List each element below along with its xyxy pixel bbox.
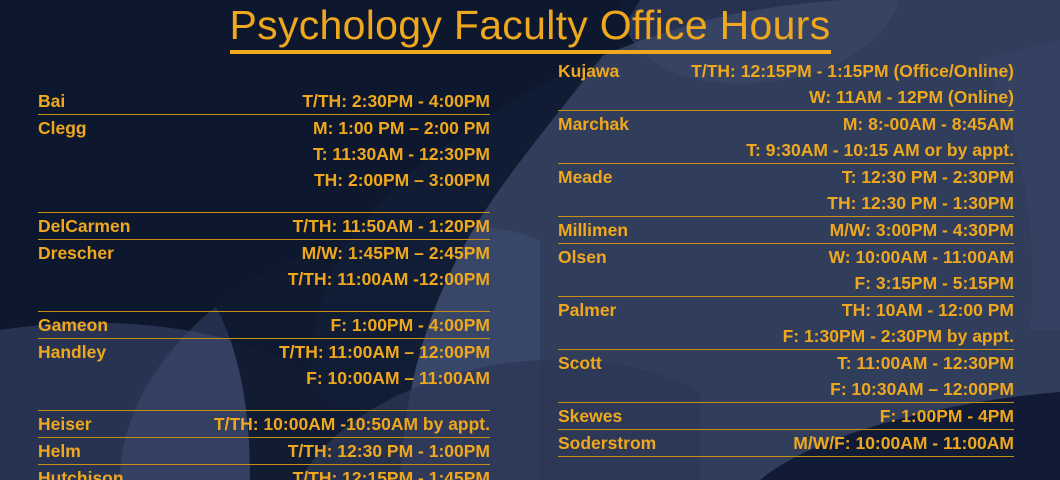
faculty-entry-primary-row: BaiT/TH: 2:30PM - 4:00PM	[38, 88, 490, 114]
faculty-name: Olsen	[558, 244, 615, 270]
office-hours-line: T/TH: 11:00AM -12:00PM	[38, 266, 490, 292]
faculty-entry-primary-row: HeiserT/TH: 10:00AM -10:50AM by appt.	[38, 411, 490, 437]
office-hours-line: T/TH: 11:00AM – 12:00PM	[114, 339, 490, 365]
faculty-entry-primary-row: MillimenM/W: 3:00PM - 4:30PM	[558, 217, 1014, 243]
office-hours-line: M/W: 1:45PM – 2:45PM	[122, 240, 490, 266]
faculty-entry-primary-row: PalmerTH: 10AM - 12:00 PM	[558, 297, 1014, 323]
page-title: Psychology Faculty Office Hours	[0, 2, 1060, 48]
office-hours-line: T/TH: 12:15PM - 1:45PM	[132, 465, 490, 480]
faculty-entry: DrescherM/W: 1:45PM – 2:45PMT/TH: 11:00A…	[38, 240, 490, 312]
office-hours-line: F: 1:00PM - 4PM	[630, 403, 1014, 429]
office-hours-line: T/TH: 10:00AM -10:50AM by appt.	[100, 411, 490, 437]
faculty-entry: MeadeT: 12:30 PM - 2:30PMTH: 12:30 PM - …	[558, 164, 1014, 217]
office-hours-line: W: 10:00AM - 11:00AM	[615, 244, 1014, 270]
faculty-entry: OlsenW: 10:00AM - 11:00AMF: 3:15PM - 5:1…	[558, 244, 1014, 297]
faculty-name: Marchak	[558, 111, 637, 137]
slide-content: Psychology Faculty Office Hours BaiT/TH:…	[0, 0, 1060, 480]
faculty-entry: ScottT: 11:00AM - 12:30PMF: 10:30AM – 12…	[558, 350, 1014, 403]
faculty-name: Kujawa	[558, 58, 627, 84]
office-hours-line: T/TH: 11:50AM - 1:20PM	[138, 213, 490, 239]
faculty-entry: KujawaT/TH: 12:15PM - 1:15PM (Office/Onl…	[558, 58, 1014, 111]
faculty-entry: BaiT/TH: 2:30PM - 4:00PM	[38, 88, 490, 115]
faculty-entry: HeiserT/TH: 10:00AM -10:50AM by appt.	[38, 411, 490, 438]
faculty-name: Clegg	[38, 115, 95, 141]
faculty-entry: GameonF: 1:00PM - 4:00PM	[38, 312, 490, 339]
faculty-name: Hutchison	[38, 465, 132, 480]
faculty-entry: SoderstromM/W/F: 10:00AM - 11:00AM	[558, 430, 1014, 457]
office-hours-line: M: 8:-00AM - 8:45AM	[637, 111, 1014, 137]
office-hours-line: M/W/F: 10:00AM - 11:00AM	[664, 430, 1014, 456]
faculty-entry-primary-row: MeadeT: 12:30 PM - 2:30PM	[558, 164, 1014, 190]
faculty-entry: DelCarmenT/TH: 11:50AM - 1:20PM	[38, 213, 490, 240]
office-hours-line: F: 1:00PM - 4:00PM	[116, 312, 490, 338]
faculty-name: Palmer	[558, 297, 624, 323]
faculty-column-right: KujawaT/TH: 12:15PM - 1:15PM (Office/Onl…	[558, 58, 1014, 457]
office-hours-line: TH: 2:00PM – 3:00PM	[38, 167, 490, 193]
faculty-entry: MillimenM/W: 3:00PM - 4:30PM	[558, 217, 1014, 244]
faculty-entry-primary-row: GameonF: 1:00PM - 4:00PM	[38, 312, 490, 338]
faculty-name: Soderstrom	[558, 430, 664, 456]
entry-spacer	[38, 391, 490, 410]
office-hours-line: T/TH: 12:15PM - 1:15PM (Office/Online)	[627, 58, 1014, 84]
office-hours-line: T: 11:00AM - 12:30PM	[610, 350, 1014, 376]
faculty-entry: SkewesF: 1:00PM - 4PM	[558, 403, 1014, 430]
faculty-entry: PalmerTH: 10AM - 12:00 PMF: 1:30PM - 2:3…	[558, 297, 1014, 350]
faculty-entry-primary-row: DelCarmenT/TH: 11:50AM - 1:20PM	[38, 213, 490, 239]
faculty-entry-primary-row: OlsenW: 10:00AM - 11:00AM	[558, 244, 1014, 270]
faculty-name: Millimen	[558, 217, 636, 243]
faculty-name: Bai	[38, 88, 73, 114]
faculty-entry: HutchisonT/TH: 12:15PM - 1:45PM	[38, 465, 490, 480]
office-hours-line: F: 10:30AM – 12:00PM	[558, 376, 1014, 402]
office-hours-line: M/W: 3:00PM - 4:30PM	[636, 217, 1014, 243]
faculty-name: Helm	[38, 438, 89, 464]
office-hours-line: T: 11:30AM - 12:30PM	[38, 141, 490, 167]
faculty-name: Heiser	[38, 411, 100, 437]
faculty-entry-primary-row: SkewesF: 1:00PM - 4PM	[558, 403, 1014, 429]
faculty-entry-primary-row: ScottT: 11:00AM - 12:30PM	[558, 350, 1014, 376]
faculty-entry: MarchakM: 8:-00AM - 8:45AMT: 9:30AM - 10…	[558, 111, 1014, 164]
entry-spacer	[38, 193, 490, 212]
faculty-column-left: BaiT/TH: 2:30PM - 4:00PMCleggM: 1:00 PM …	[38, 88, 490, 480]
office-hours-line: W: 11AM - 12PM (Online)	[558, 84, 1014, 110]
faculty-entry: HandleyT/TH: 11:00AM – 12:00PMF: 10:00AM…	[38, 339, 490, 411]
faculty-name: Scott	[558, 350, 610, 376]
faculty-name: Handley	[38, 339, 114, 365]
office-hours-line: TH: 10AM - 12:00 PM	[624, 297, 1014, 323]
faculty-name: Drescher	[38, 240, 122, 266]
faculty-name: Meade	[558, 164, 620, 190]
faculty-name: Skewes	[558, 403, 630, 429]
faculty-entry-primary-row: HelmT/TH: 12:30 PM - 1:00PM	[38, 438, 490, 464]
faculty-name: Gameon	[38, 312, 116, 338]
faculty-entry-primary-row: HutchisonT/TH: 12:15PM - 1:45PM	[38, 465, 490, 480]
office-hours-line: F: 3:15PM - 5:15PM	[558, 270, 1014, 296]
office-hours-line: M: 1:00 PM – 2:00 PM	[95, 115, 490, 141]
office-hours-line: TH: 12:30 PM - 1:30PM	[558, 190, 1014, 216]
faculty-entry-primary-row: MarchakM: 8:-00AM - 8:45AM	[558, 111, 1014, 137]
faculty-entry-primary-row: KujawaT/TH: 12:15PM - 1:15PM (Office/Onl…	[558, 58, 1014, 84]
office-hours-line: T: 12:30 PM - 2:30PM	[620, 164, 1014, 190]
faculty-entry: CleggM: 1:00 PM – 2:00 PMT: 11:30AM - 12…	[38, 115, 490, 213]
faculty-entry-primary-row: SoderstromM/W/F: 10:00AM - 11:00AM	[558, 430, 1014, 456]
entry-spacer	[38, 292, 490, 311]
faculty-entry-primary-row: DrescherM/W: 1:45PM – 2:45PM	[38, 240, 490, 266]
office-hours-line: T/TH: 12:30 PM - 1:00PM	[89, 438, 490, 464]
office-hours-line: F: 10:00AM – 11:00AM	[38, 365, 490, 391]
faculty-entry: HelmT/TH: 12:30 PM - 1:00PM	[38, 438, 490, 465]
faculty-entry-primary-row: CleggM: 1:00 PM – 2:00 PM	[38, 115, 490, 141]
faculty-name: DelCarmen	[38, 213, 138, 239]
office-hours-line: T/TH: 2:30PM - 4:00PM	[73, 88, 490, 114]
faculty-entry-primary-row: HandleyT/TH: 11:00AM – 12:00PM	[38, 339, 490, 365]
office-hours-line: F: 1:30PM - 2:30PM by appt.	[558, 323, 1014, 349]
slide-root: Psychology Faculty Office Hours BaiT/TH:…	[0, 0, 1060, 480]
page-title-text: Psychology Faculty Office Hours	[230, 2, 831, 54]
office-hours-line: T: 9:30AM - 10:15 AM or by appt.	[558, 137, 1014, 163]
